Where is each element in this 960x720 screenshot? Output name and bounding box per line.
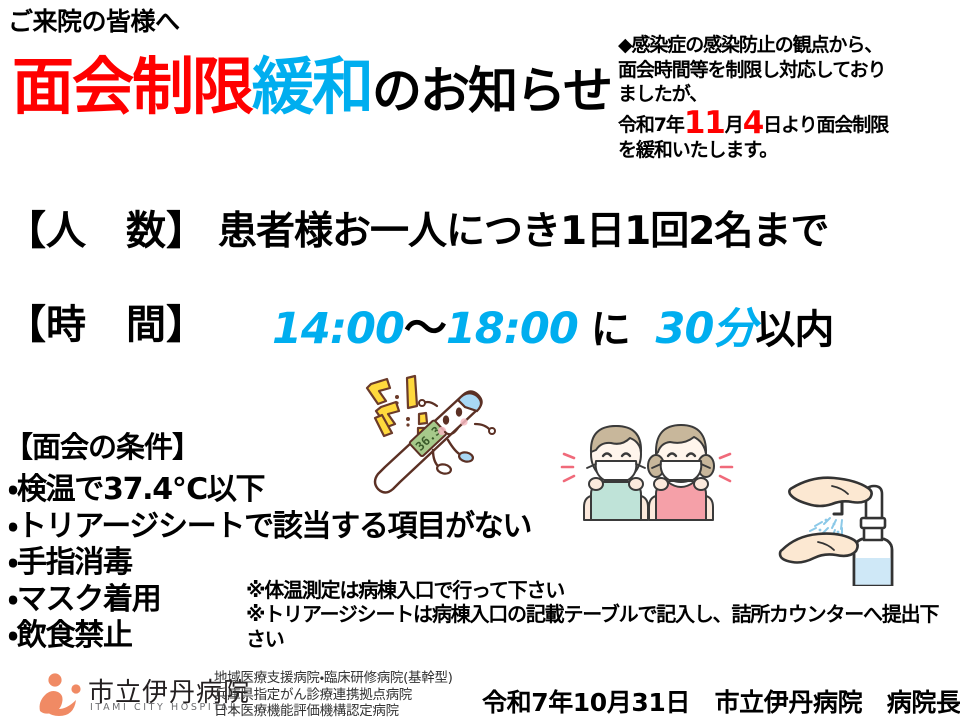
- conditions-title: 【面会の条件】: [4, 424, 200, 466]
- condition-item: ・トリアージシートで該当する項目がない: [8, 509, 531, 546]
- designation-line-1: 地域医療支援病院・臨床研修病院(基幹型): [214, 670, 453, 687]
- top-note-month-unit: 月: [725, 114, 743, 136]
- people-row-value: 患者様お一人につき1日1回2名まで: [218, 200, 828, 256]
- time-tilde: 〜: [404, 304, 446, 354]
- title-cyan-part: 緩和: [252, 50, 372, 123]
- hospital-designations: 地域医療支援病院・臨床研修病院(基幹型) 兵庫県指定がん診療連携拠点病院 日本医…: [214, 670, 453, 720]
- supplementary-notes: ※体温測定は病棟入口で行って下さい ※トリアージシートは病棟入口の記載テーブルで…: [246, 578, 946, 651]
- greeting-text: ご来院の皆様へ: [8, 2, 180, 38]
- top-note-line-3: ましたが、: [618, 82, 958, 107]
- hand-sanitizer-illustration: [778, 458, 956, 586]
- condition-item: ・手指消毒: [8, 545, 531, 582]
- hospital-logo-svg: [36, 672, 84, 716]
- hospital-logo-mark: [36, 672, 84, 720]
- top-note-line-1: ◆感染症の感染防止の観点から、: [618, 33, 958, 58]
- time-duration: 30分: [656, 304, 756, 354]
- time-connector: に: [591, 307, 630, 353]
- note-line-2: ※トリアージシートは病棟入口の記載テーブルで記入し、詰所カウンターへ提出下さい: [246, 602, 946, 651]
- page-title: 面会制限緩和のお知らせ: [12, 56, 611, 118]
- top-note-day-number: 4: [743, 105, 763, 141]
- time-row-label: 【時 間】: [6, 292, 206, 350]
- time-duration-suffix: 以内: [755, 307, 833, 353]
- footer-date-and-signature: 令和7年10月31日 市立伊丹病院 病院長: [482, 683, 960, 719]
- masked-children-illustration: [556, 412, 738, 522]
- notice-poster: ご来院の皆様へ 面会制限緩和のお知らせ ◆感染症の感染防止の観点から、 面会時間…: [0, 0, 960, 720]
- title-black-part: のお知らせ: [372, 62, 611, 120]
- designation-line-2: 兵庫県指定がん診療連携拠点病院: [214, 687, 453, 704]
- top-note-line-5: を緩和いたします。: [618, 138, 958, 163]
- title-red-part: 面会制限: [12, 50, 252, 123]
- masked-children-svg: [556, 412, 738, 522]
- people-row-label: 【人 数】: [6, 198, 206, 256]
- top-note-line-4: 令和7年11月4日より面会制限: [618, 111, 958, 138]
- time-end: 18:00: [446, 304, 578, 354]
- designation-line-3: 日本医療機能評価機構認定病院: [214, 703, 453, 720]
- infection-control-note: ◆感染症の感染防止の観点から、 面会時間等を制限し対応しており ましたが、 令和…: [618, 33, 958, 162]
- time-row-value: 14:00〜18:00 に 30分以内: [272, 294, 833, 356]
- time-start: 14:00: [272, 304, 404, 354]
- hand-sanitizer-svg: [778, 458, 956, 586]
- top-note-era-prefix: 令和7年: [618, 114, 684, 136]
- top-note-line-2: 面会時間等を制限し対応しており: [618, 58, 958, 83]
- top-note-month-number: 11: [684, 105, 725, 141]
- thermometer-svg: 36.3: [345, 362, 525, 500]
- top-note-day-suffix: 日より面会制限: [763, 114, 888, 136]
- logo-dot-circle: [71, 684, 80, 693]
- thermometer-illustration: 36.3: [345, 362, 525, 500]
- logo-head-circle: [48, 673, 61, 686]
